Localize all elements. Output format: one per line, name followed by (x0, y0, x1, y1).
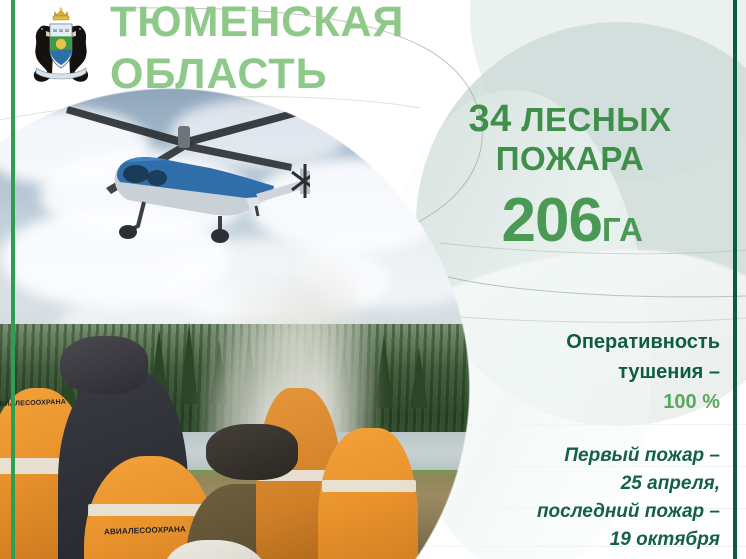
efficiency-block: Оперативность тушения – 100 % (452, 327, 720, 417)
fires-count-label: ЛЕСНЫХ (521, 101, 671, 138)
helicopter-icon (60, 102, 310, 262)
burned-area-line: 206ГА (430, 185, 715, 256)
fires-count-label-2: ПОЖАРА (440, 140, 700, 178)
efficiency-value: 100 % (452, 387, 720, 417)
right-green-rule (733, 0, 737, 559)
efficiency-label-line1: Оперативность (452, 327, 720, 357)
page-title: ТЮМЕНСКАЯ ОБЛАСТЬ (110, 0, 530, 100)
tyumen-oblast-coat-of-arms-icon (24, 6, 98, 86)
poster-canvas: АВИАЛЕСООХРАНА АВИАЛЕСООХРАНА (0, 0, 746, 559)
photo-aerial-firefighters: АВИАЛЕСООХРАНА АВИАЛЕСООХРАНА (0, 88, 470, 559)
fire-season-dates: Первый пожар – 25 апреля, последний пожа… (440, 442, 720, 554)
left-green-rule (11, 0, 15, 559)
efficiency-label-line2: тушения – (452, 357, 720, 387)
fires-count-line: 34 ЛЕСНЫХ (440, 98, 700, 141)
fires-count-value: 34 (468, 98, 511, 140)
burned-area-unit: ГА (602, 211, 643, 248)
equipment-gear (60, 336, 148, 394)
burned-area-value: 206 (502, 186, 602, 255)
equipment-bag (206, 424, 298, 480)
